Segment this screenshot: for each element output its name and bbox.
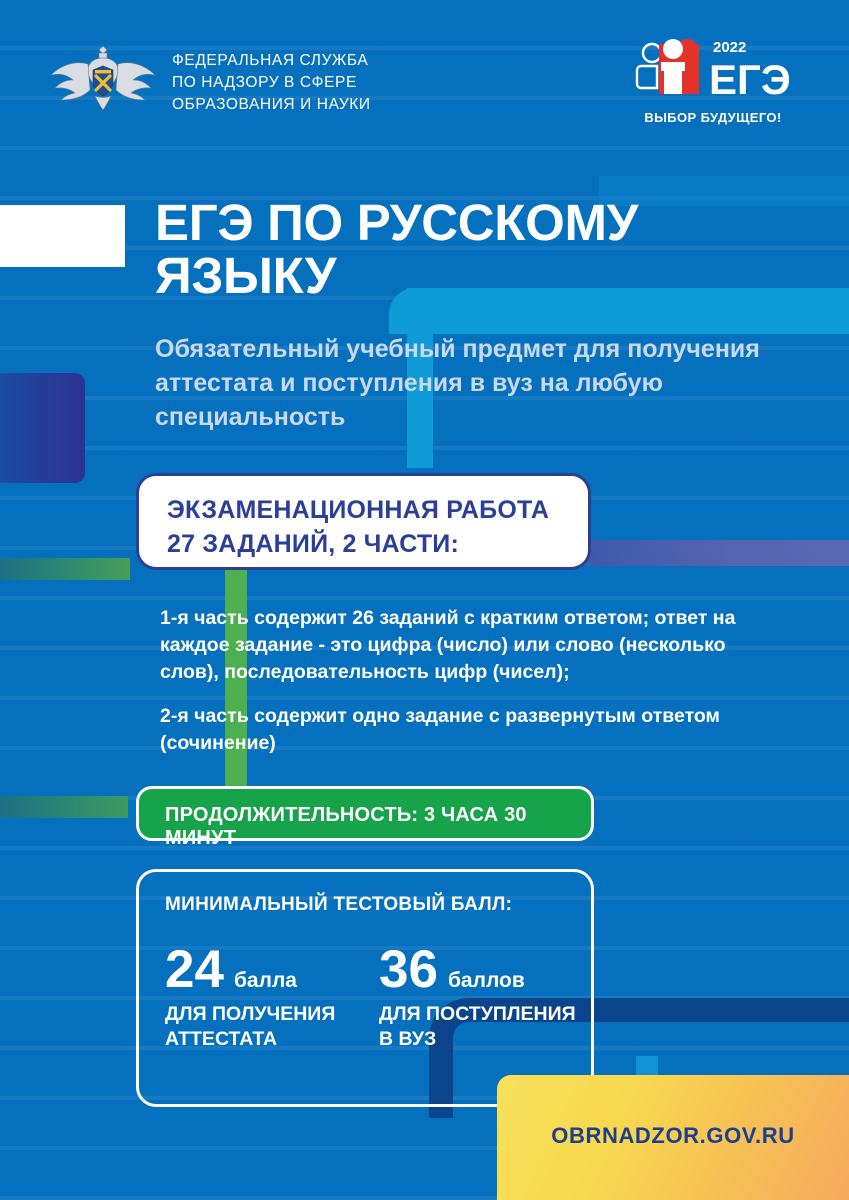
footer-website-url[interactable]: OBRNADZOR.GOV.RU [497,1123,849,1149]
score-value-row: 24 балла [165,942,335,998]
agency-name: ФЕДЕРАЛЬНАЯ СЛУЖБА ПО НАДЗОРУ В СФЕРЕ ОБ… [172,50,371,116]
decor-purple-band [549,540,849,566]
score-item-university: 36 баллов ДЛЯ ПОСТУПЛЕНИЯ В ВУЗ [379,942,576,1052]
duration-text: ПРОДОЛЖИТЕЛЬНОСТЬ: 3 ЧАСА 30 МИНУТ [165,804,591,850]
decor-green-bar-top [0,558,130,580]
duration-banner: ПРОДОЛЖИТЕЛЬНОСТЬ: 3 ЧАСА 30 МИНУТ [136,786,594,841]
page-title-line2: ЯЗЫКУ [155,249,795,302]
score-description-line2: АТТЕСТАТА [165,1027,335,1052]
page-title: ЕГЭ ПО РУССКОМУ ЯЗЫКУ [155,196,795,302]
page-title-line1: ЕГЭ ПО РУССКОМУ [155,196,795,249]
decor-green-bar-bottom [0,796,128,818]
page-subtitle: Обязательный учебный предмет для получен… [155,332,785,434]
decor-purple-block [0,373,85,483]
score-item-attestat: 24 балла ДЛЯ ПОЛУЧЕНИЯ АТТЕСТАТА [165,942,335,1052]
score-unit: балла [234,969,297,993]
score-description: ДЛЯ ПОЛУЧЕНИЯ АТТЕСТАТА [165,1002,335,1052]
footer-panel: OBRNADZOR.GOV.RU [497,1075,849,1200]
poster-header: ФЕДЕРАЛЬНАЯ СЛУЖБА ПО НАДЗОРУ В СФЕРЕ ОБ… [0,0,849,150]
score-value-row: 36 баллов [379,942,576,998]
part2-description: 2-я часть содержит одно задание с развер… [160,703,780,757]
exam-work-card-text: ЭКЗАМЕНАЦИОННАЯ РАБОТА 27 ЗАДАНИЙ, 2 ЧАС… [167,493,549,561]
score-description-line1: ДЛЯ ПОСТУПЛЕНИЯ [379,1002,576,1027]
part1-description: 1-я часть содержит 26 заданий с кратким … [160,605,780,686]
score-description-line1: ДЛЯ ПОЛУЧЕНИЯ [165,1002,335,1027]
score-unit: баллов [448,969,525,993]
title-accent-rectangle [0,205,125,267]
score-description-line2: В ВУЗ [379,1027,576,1052]
minimum-score-card: МИНИМАЛЬНЫЙ ТЕСТОВЫЙ БАЛЛ: 24 балла ДЛЯ … [136,869,594,1107]
ege-tagline: ВЫБОР БУДУЩЕГО! [633,110,793,125]
exam-work-card: ЭКЗАМЕНАЦИОННАЯ РАБОТА 27 ЗАДАНИЙ, 2 ЧАС… [136,473,591,570]
score-description: ДЛЯ ПОСТУПЛЕНИЯ В ВУЗ [379,1002,576,1052]
ege-mark-text: ЕГЭ [709,56,791,103]
ege-year-text: 2022 [713,39,746,56]
exam-work-line1: ЭКЗАМЕНАЦИОННАЯ РАБОТА [167,493,549,527]
poster-root: ФЕДЕРАЛЬНАЯ СЛУЖБА ПО НАДЗОРУ В СФЕРЕ ОБ… [0,0,849,1200]
agency-name-line3: ОБРАЗОВАНИЯ И НАУКИ [172,94,371,116]
minimum-score-title: МИНИМАЛЬНЫЙ ТЕСТОВЫЙ БАЛЛ: [165,894,512,916]
score-value: 36 [379,942,438,998]
agency-name-line1: ФЕДЕРАЛЬНАЯ СЛУЖБА [172,50,371,72]
exam-work-line2: 27 ЗАДАНИЙ, 2 ЧАСТИ: [167,527,549,561]
federal-eagle-emblem-icon [48,40,158,112]
ege-logo: 2022 ЕГЭ ВЫБОР БУДУЩЕГО! [633,36,793,132]
score-value: 24 [165,942,224,998]
agency-name-line2: ПО НАДЗОРУ В СФЕРЕ [172,72,371,94]
decor-green-connector [225,560,247,816]
ege-logo-mark-icon: 2022 ЕГЭ [633,36,793,104]
